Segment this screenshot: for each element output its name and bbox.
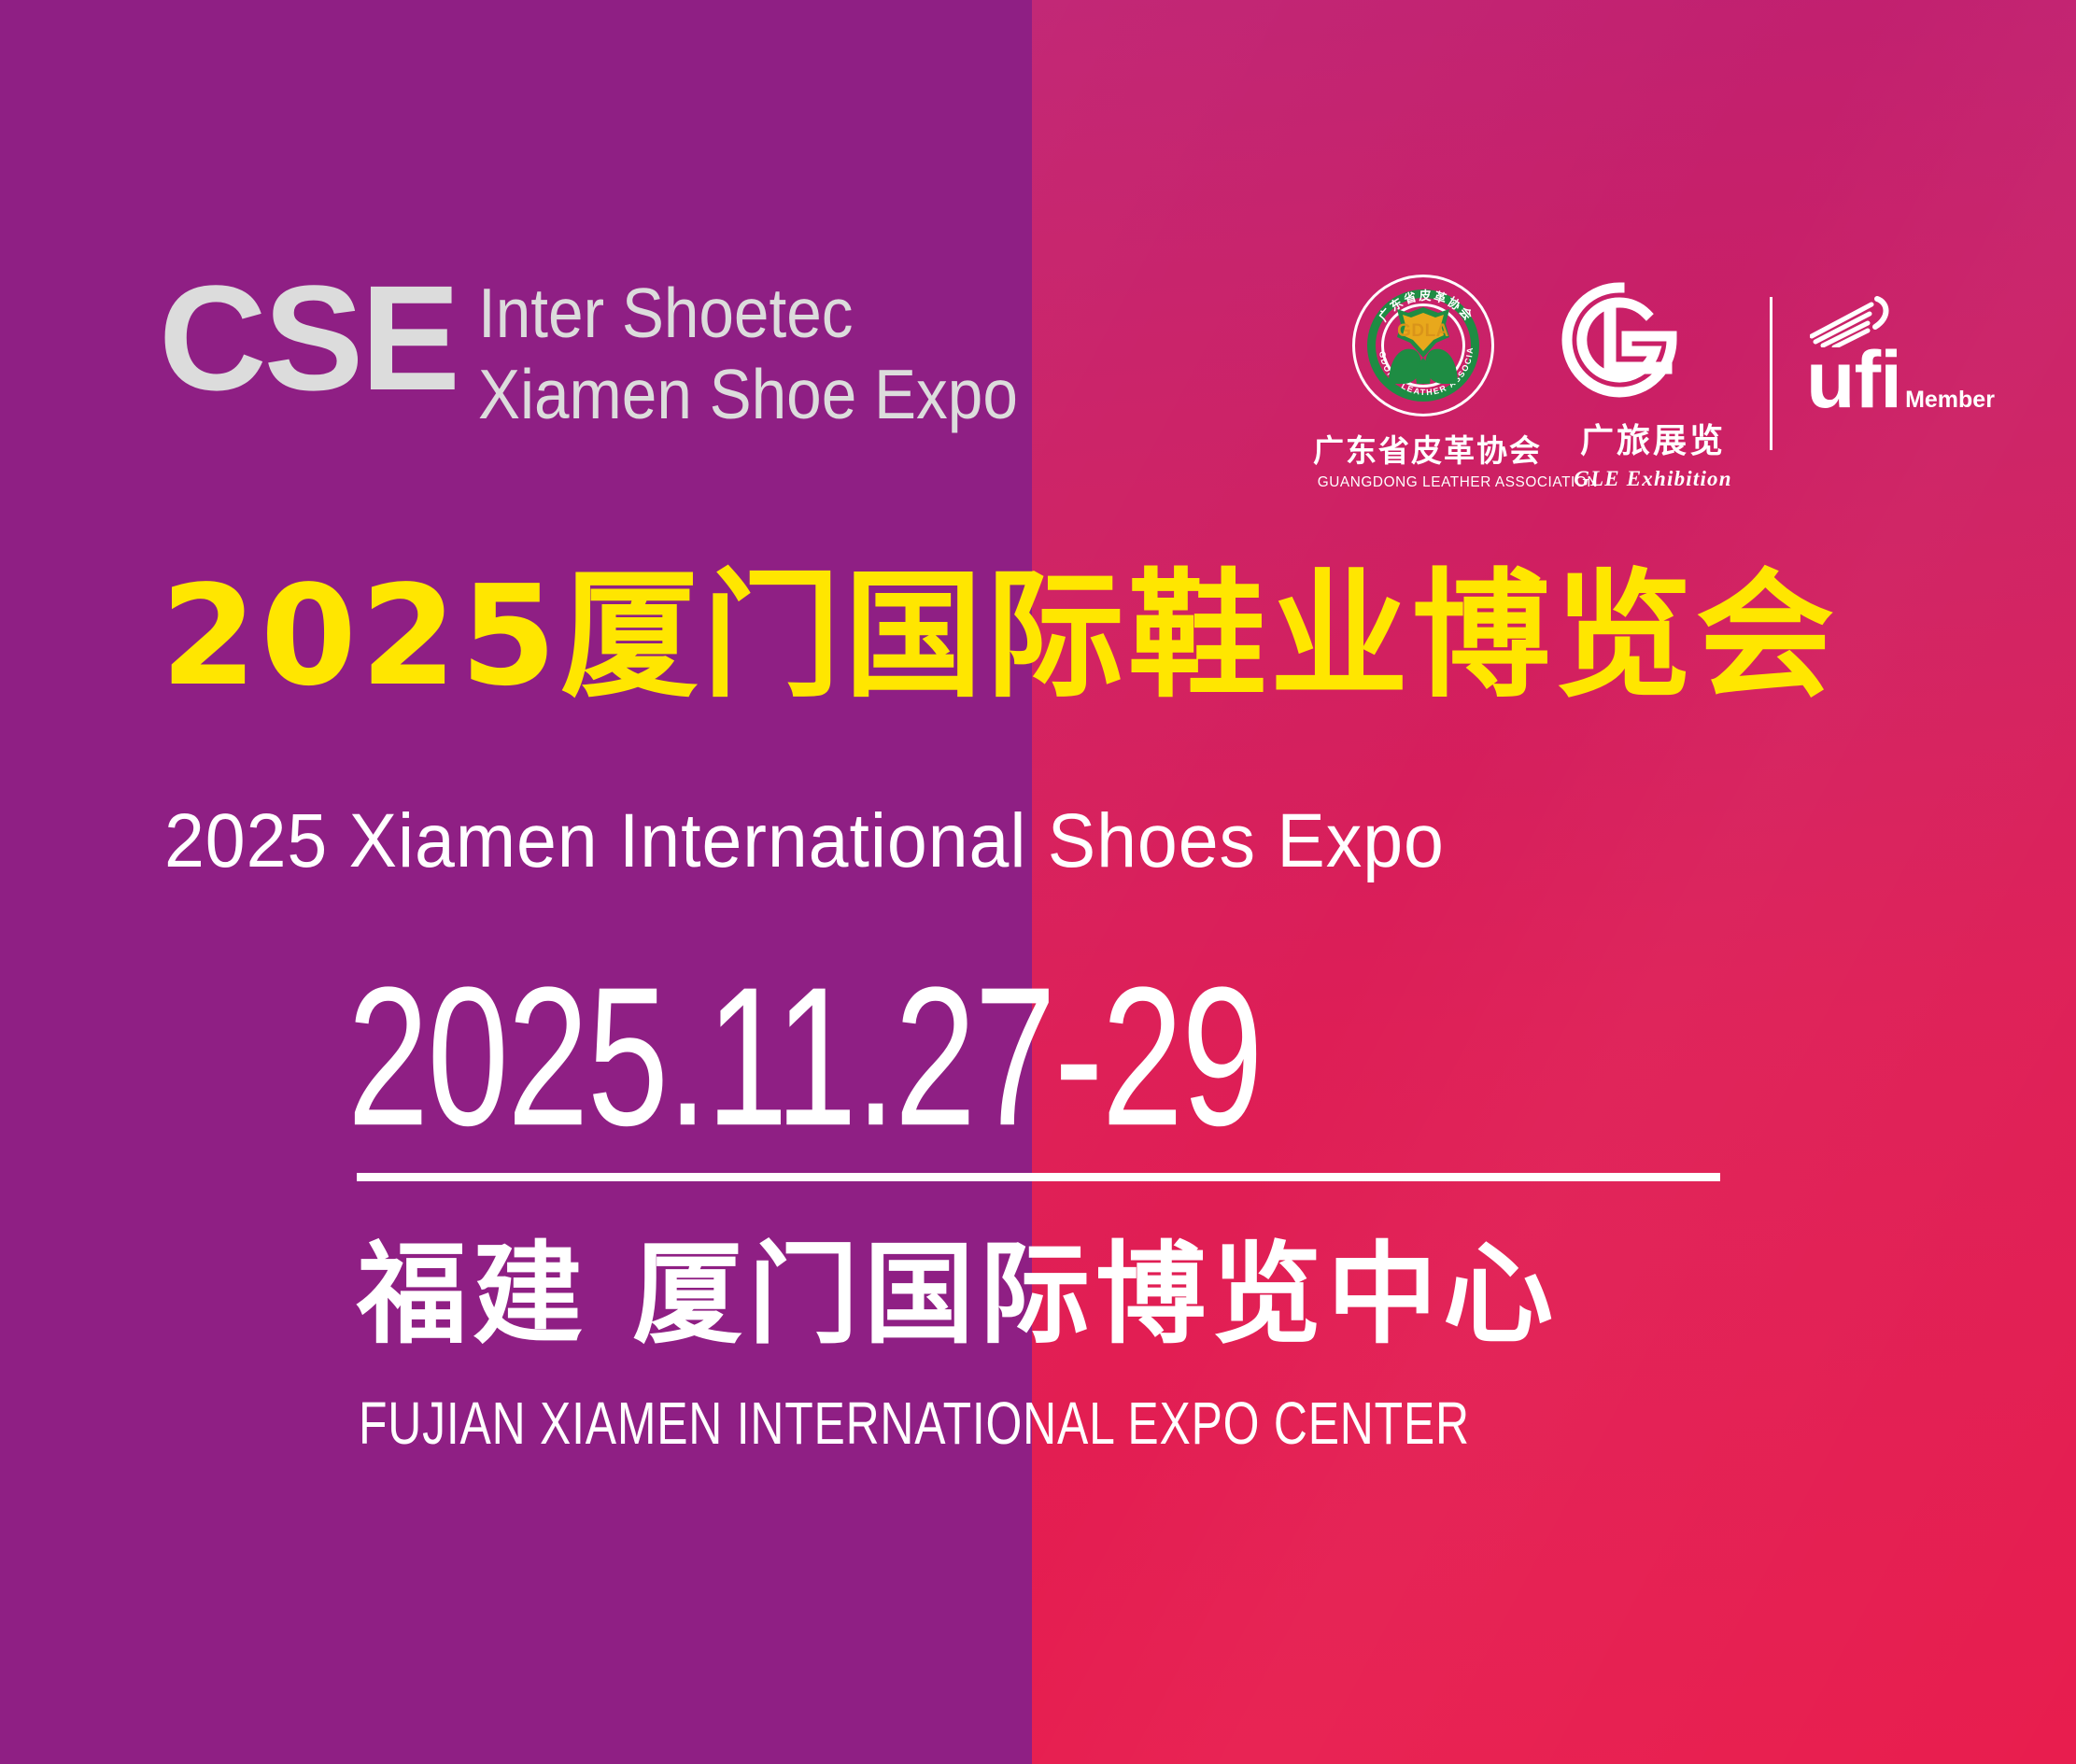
ufi-member-label: Member [1905, 387, 1995, 414]
venue-english: FUJIAN XIAMEN INTERNATIONAL EXPO CENTER [359, 1393, 1470, 1453]
gle-name-en: GLE Exhibition [1558, 467, 1752, 491]
divider-rule [357, 1173, 1720, 1181]
gle-g-mark-icon [1558, 278, 1681, 402]
event-date: 2025.11.27-29 [347, 958, 1262, 1156]
ufi-wordmark-row: ufi Member [1806, 346, 1970, 414]
partner-logo-ufi: ufi Member [1797, 275, 1970, 414]
header-row: CSE Inter Shoetec Xiamen Shoe Expo [159, 269, 1970, 474]
headline-english: 2025 Xiamen International Shoes Expo [164, 799, 1445, 883]
partner-logo-gdla: 广东省皮革协会 GUANGDONG LEATHER ASSOCIATION [1313, 275, 1533, 491]
venue-chinese: 福建 厦门国际博览中心 [357, 1235, 1559, 1356]
partner-logo-row: 广东省皮革协会 GUANGDONG LEATHER ASSOCIATION [1313, 275, 1970, 491]
gdla-name-cn: 广东省皮革协会 [1313, 426, 1533, 471]
gdla-name-en: GUANGDONG LEATHER ASSOCIATION [1318, 474, 1530, 491]
cse-brand-line-2: Xiamen Shoe Expo [478, 354, 1018, 435]
headline-chinese: 2025厦门国际鞋业博览会 [161, 564, 1838, 709]
cse-brand-line-1: Inter Shoetec [478, 273, 1018, 354]
partner-logo-gle: 广旅展览 GLE Exhibition [1558, 275, 1772, 491]
gle-name-cn: 广旅展览 [1558, 414, 1752, 462]
expo-poster: CSE Inter Shoetec Xiamen Shoe Expo [0, 0, 2076, 1764]
ufi-wordmark: ufi [1806, 346, 1901, 414]
gdla-emblem-icon: 广东省皮革协会 GUANGDONG LEATHER ASSOCIATION [1352, 275, 1494, 416]
cse-brand-lines: Inter Shoetec Xiamen Shoe Expo [478, 273, 1078, 435]
gdla-initials: GDLA [1395, 321, 1451, 342]
cse-brand-lockup: CSE Inter Shoetec Xiamen Shoe Expo [159, 269, 1078, 435]
cse-wordmark: CSE [159, 269, 458, 406]
